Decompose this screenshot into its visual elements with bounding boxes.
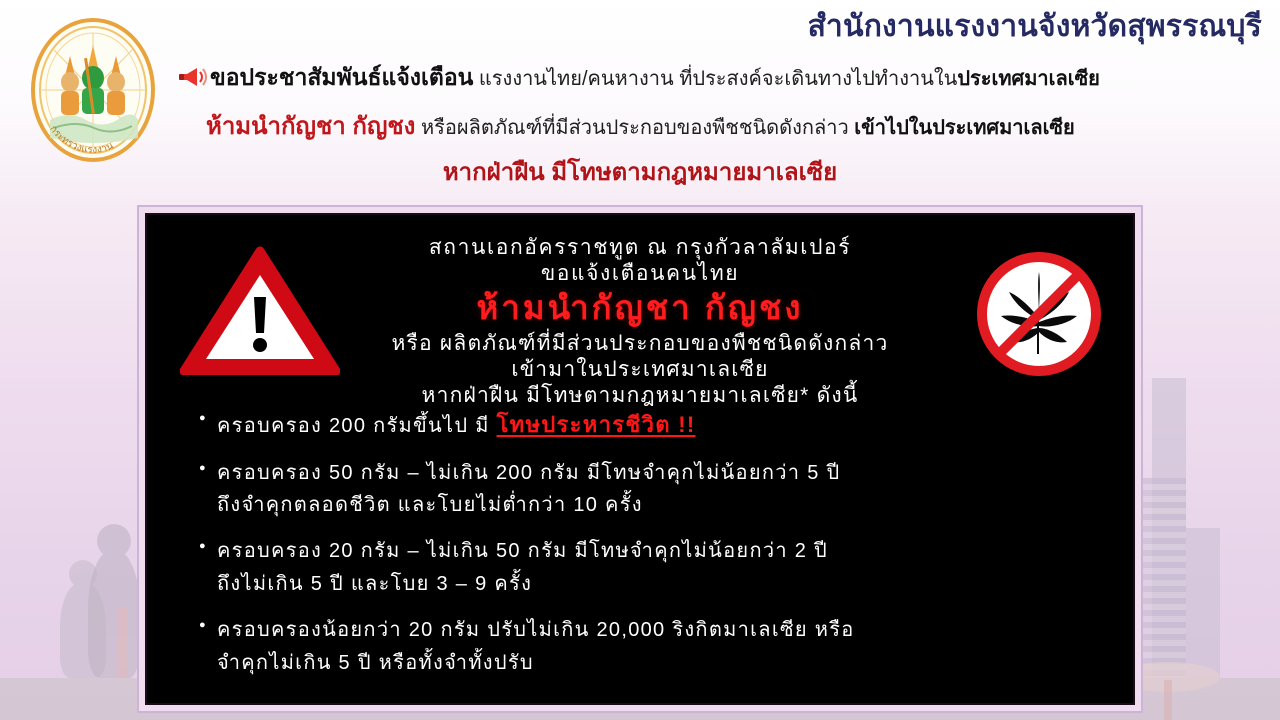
bullet-dot-icon [199, 535, 217, 600]
header-line-2-tail: เข้าไปในประเทศมาเลเซีย [854, 117, 1074, 139]
bullet-dot-icon [199, 407, 217, 443]
bullet-dot-icon [199, 457, 217, 522]
list-item-text: ครอบครอง 20 กรัม – ไม่เกิน 50 กรัม มีโทษ… [217, 535, 828, 600]
list-item-line-1: ครอบครอง 50 กรัม – ไม่เกิน 200 กรัม มีโท… [217, 462, 840, 484]
poster-head-big: ห้ามนำกัญชา กัญชง [147, 286, 1133, 331]
list-item-line-1: ครอบครองน้อยกว่า 20 กรัม ปรับไม่เกิน 20,… [217, 619, 855, 641]
death-penalty-emphasis: โทษประหารชีวิต !! [497, 412, 696, 437]
poster-head-line-2: ขอแจ้งเตือนคนไทย [147, 261, 1133, 287]
bullet-dot-icon [199, 614, 217, 679]
header-line-3: หากฝ่าฝืน มีโทษตามกฎหมายมาเลเซีย [0, 159, 1280, 187]
office-title: สำนักงานแรงงานจังหวัดสุพรรณบุรี [808, 10, 1262, 43]
header-line-1-tail: ประเทศมาเลเซีย [957, 68, 1100, 90]
poster-head-line-5: เข้ามาในประเทศมาเลเซีย [147, 357, 1133, 383]
list-item: ครอบครอง 200 กรัมขึ้นไป มี โทษประหารชีวิ… [199, 407, 1093, 443]
warning-poster-inner: สถานเอกอัครราชทูต ณ กรุงกัวลาลัมเปอร์ ขอ… [145, 213, 1135, 705]
poster-head-line-4: หรือ ผลิตภัณฑ์ที่มีส่วนประกอบของพืชชนิดด… [147, 331, 1133, 357]
header-line-1-strong: ขอประชาสัมพันธ์แจ้งเตือน [210, 64, 473, 90]
header-line-1-rest: แรงงานไทย/คนหางาน ที่ประสงค์จะเดินทางไปท… [473, 68, 957, 90]
header-line-2: ห้ามนำกัญชา กัญชง หรือผลิตภัณฑ์ที่มีส่วน… [206, 113, 1075, 141]
list-item-line-2: ถึงไม่เกิน 5 ปี และโบย 3 – 9 ครั้ง [217, 573, 532, 595]
list-item-line-1: ครอบครอง 200 กรัมขึ้นไป มี [217, 415, 497, 437]
list-item: ครอบครองน้อยกว่า 20 กรัม ปรับไม่เกิน 20,… [199, 614, 1093, 679]
header-line-2-rest: หรือผลิตภัณฑ์ที่มีส่วนประกอบของพืชชนิดดั… [415, 117, 854, 139]
list-item-text: ครอบครองน้อยกว่า 20 กรัม ปรับไม่เกิน 20,… [217, 614, 855, 679]
list-item-text: ครอบครอง 50 กรัม – ไม่เกิน 200 กรัม มีโท… [217, 457, 840, 522]
page-header: กระทรวงแรงงาน สำนักงานแรงงานจังหวัดสุพรร… [0, 0, 1280, 200]
warning-poster-panel: สถานเอกอัครราชทูต ณ กรุงกัวลาลัมเปอร์ ขอ… [137, 205, 1143, 713]
poster-head-line-1: สถานเอกอัครราชทูต ณ กรุงกัวลาลัมเปอร์ [147, 235, 1133, 261]
poster-page: กระทรวงแรงงาน สำนักงานแรงงานจังหวัดสุพรร… [0, 0, 1280, 720]
list-item-text: ครอบครอง 200 กรัมขึ้นไป มี โทษประหารชีวิ… [217, 407, 695, 443]
list-item-line-2: จำคุกไม่เกิน 5 ปี หรือทั้งจำทั้งปรับ [217, 652, 534, 674]
penalty-list: ครอบครอง 200 กรัมขึ้นไป มี โทษประหารชีวิ… [199, 407, 1093, 693]
ministry-of-labour-seal-icon: กระทรวงแรงงาน [24, 12, 162, 176]
list-item-line-1: ครอบครอง 20 กรัม – ไม่เกิน 50 กรัม มีโทษ… [217, 540, 828, 562]
header-line-1: ขอประชาสัมพันธ์แจ้งเตือน แรงงานไทย/คนหาง… [178, 64, 1100, 91]
list-item: ครอบครอง 20 กรัม – ไม่เกิน 50 กรัม มีโทษ… [199, 535, 1093, 600]
list-item-line-2: ถึงจำคุกตลอดชีวิต และโบยไม่ต่ำกว่า 10 คร… [217, 494, 643, 516]
poster-heading: สถานเอกอัครราชทูต ณ กรุงกัวลาลัมเปอร์ ขอ… [147, 235, 1133, 409]
poster-head-line-6: หากฝ่าฝืน มีโทษตามกฎหมายมาเลเซีย* ดังนี้ [147, 383, 1133, 409]
list-item: ครอบครอง 50 กรัม – ไม่เกิน 200 กรัม มีโท… [199, 457, 1093, 522]
megaphone-icon [178, 65, 208, 89]
header-line-2-red: ห้ามนำกัญชา กัญชง [206, 113, 415, 140]
